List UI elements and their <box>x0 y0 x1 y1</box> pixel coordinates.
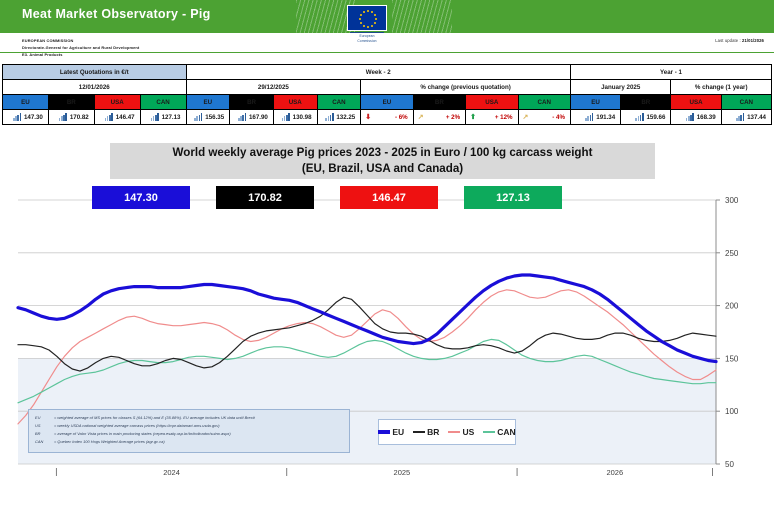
legend-label: BR <box>427 427 439 437</box>
logo-caption-line2: Commission <box>338 39 396 44</box>
badge-usa: 146.47 <box>340 186 438 209</box>
y-tick-label-150: 150 <box>725 354 739 363</box>
x-tick-label-2026: 2026 <box>606 468 623 477</box>
directorate-name: Directorate-General for Agriculture and … <box>22 44 139 51</box>
value-text: 127.13 <box>162 114 181 121</box>
legend-label: US <box>462 427 474 437</box>
header-year: Year - 1 <box>570 65 771 80</box>
trend-down-icon: ⬇ <box>365 114 371 121</box>
value-cell-year-usa: 168.39 <box>671 110 721 125</box>
pct-text: + 2% <box>428 114 461 121</box>
y-tick-label-50: 50 <box>725 460 734 469</box>
pct-cell-week-pct-usa: ⬆+ 12% <box>466 110 518 125</box>
logo-divider <box>350 32 384 33</box>
sparkline-icon <box>635 113 643 121</box>
commission-name: EUROPEAN COMMISSION <box>22 37 139 44</box>
sparkline-icon <box>686 113 694 121</box>
pct-cell-week-pct-can: ↗- 4% <box>518 110 570 125</box>
country-header-week-usa: USA <box>273 95 317 110</box>
last-update: Last update : 21/01/2026 <box>715 38 764 43</box>
value-cell-latest-usa: 146.47 <box>94 110 140 125</box>
chart-title: World weekly average Pig prices 2023 - 2… <box>110 143 655 179</box>
footnote-key: US <box>35 422 54 430</box>
quotations-table: Latest Quotations in €/t Week - 2 Year -… <box>2 64 772 125</box>
value-cell-week-can: 132.25 <box>317 110 361 125</box>
header-latest-quotations: Latest Quotations in €/t <box>3 65 187 80</box>
value-text: 156.35 <box>205 114 224 121</box>
value-text: 147.30 <box>24 114 43 121</box>
country-header-week-pct-can: CAN <box>518 95 570 110</box>
sparkline-icon <box>736 113 744 121</box>
eu-commission-logo: European Commission <box>338 5 396 44</box>
header-week: Week - 2 <box>186 65 570 80</box>
footnote-key: CAN <box>35 438 54 446</box>
sparkline-icon <box>105 113 113 121</box>
badge-br: 170.82 <box>216 186 314 209</box>
table-row-sub-headers: 12/01/2026 29/12/2025 % change (previous… <box>3 80 772 95</box>
table-row-values: 147.30170.82146.47127.13156.35167.90130.… <box>3 110 772 125</box>
y-tick-label-250: 250 <box>725 249 739 258</box>
last-update-label: Last update : <box>715 38 741 43</box>
badge-can: 127.13 <box>464 186 562 209</box>
sparkline-icon <box>151 113 159 121</box>
subheader-year-date: January 2025 <box>570 80 670 95</box>
pct-cell-week-pct-eu: ⬇- 6% <box>361 110 413 125</box>
value-cell-latest-eu: 147.30 <box>3 110 49 125</box>
footnote-text: = weekly USDA national weighted average … <box>54 424 220 428</box>
country-header-week-eu: EU <box>186 95 230 110</box>
value-cell-latest-can: 127.13 <box>140 110 186 125</box>
value-text: 170.82 <box>70 114 89 121</box>
trend-flat-icon: ↗ <box>418 114 424 121</box>
country-header-latest-usa: USA <box>94 95 140 110</box>
sparkline-icon <box>59 113 67 121</box>
value-text: 168.39 <box>697 114 716 121</box>
eu-flag-icon <box>347 5 387 31</box>
footnote-key: BR <box>35 430 54 438</box>
chart-title-line1: World weekly average Pig prices 2023 - 2… <box>110 145 655 161</box>
header-swoosh-right <box>392 0 452 33</box>
legend-label: EU <box>392 427 404 437</box>
subheader-year-pct: % change (1 year) <box>671 80 772 95</box>
footnote-line-eu: EU= weighted average of MS prices for cl… <box>35 414 344 422</box>
pct-text: - 4% <box>532 114 565 121</box>
footnote-box: EU= weighted average of MS prices for cl… <box>28 409 350 453</box>
y-tick-label-100: 100 <box>725 407 739 416</box>
subheader-week-pct: % change (previous quotation) <box>361 80 571 95</box>
badge-eu: 147.30 <box>92 186 190 209</box>
legend-swatch-icon <box>413 431 425 433</box>
value-text: 146.47 <box>116 114 135 121</box>
table-row-country-headers: EUBRUSACANEUBRUSACANEUBRUSACANEUBRUSACAN <box>3 95 772 110</box>
subheader-latest-date: 12/01/2026 <box>3 80 187 95</box>
footnote-line-br: BR= average of Valor Vista prices in mai… <box>35 430 344 438</box>
country-header-year-eu: EU <box>570 95 620 110</box>
value-text: 191.34 <box>596 114 615 121</box>
chart-title-line2: (EU, Brazil, USA and Canada) <box>110 161 655 177</box>
legend-item-can[interactable]: CAN <box>483 427 515 437</box>
sparkline-icon <box>194 113 202 121</box>
sparkline-icon <box>238 113 246 121</box>
x-tick-label-2024: 2024 <box>163 468 180 477</box>
country-header-year-can: CAN <box>721 95 771 110</box>
pct-text: + 12% <box>480 114 513 121</box>
value-cell-year-br: 159.66 <box>621 110 671 125</box>
current-value-badges: 147.30 170.82 146.47 127.13 <box>0 186 774 210</box>
page-title: Meat Market Observatory - Pig <box>22 7 211 21</box>
commission-block: EUROPEAN COMMISSION Directorate-General … <box>22 37 139 59</box>
sparkline-icon <box>585 113 593 121</box>
footnote-text: = weighted average of MS prices for clas… <box>54 416 255 420</box>
legend-swatch-icon <box>448 431 460 433</box>
value-cell-week-br: 167.90 <box>230 110 274 125</box>
country-header-week-pct-usa: USA <box>466 95 518 110</box>
footnote-text: = average of Valor Vista prices in main … <box>54 432 231 436</box>
country-header-latest-can: CAN <box>140 95 186 110</box>
value-text: 159.66 <box>646 114 665 121</box>
sparkline-icon <box>325 113 333 121</box>
trend-up-icon: ⬆ <box>470 114 476 121</box>
footnote-key: EU <box>35 414 54 422</box>
country-header-latest-br: BR <box>48 95 94 110</box>
country-header-latest-eu: EU <box>3 95 49 110</box>
country-header-week-pct-br: BR <box>413 95 465 110</box>
country-header-year-br: BR <box>621 95 671 110</box>
logo-caption: European Commission <box>338 34 396 44</box>
sparkline-icon <box>282 113 290 121</box>
country-header-week-pct-eu: EU <box>361 95 413 110</box>
sparkline-icon <box>13 113 21 121</box>
value-text: 130.98 <box>293 114 312 121</box>
value-text: 137.44 <box>747 114 766 121</box>
subheader-week-date: 29/12/2025 <box>186 80 361 95</box>
value-text: 132.25 <box>336 114 355 121</box>
last-update-value: 21/01/2026 <box>742 38 764 43</box>
header-divider <box>0 52 774 53</box>
legend-item-us[interactable]: US <box>448 427 474 437</box>
footnote-line-can: CAN= Quebec Index 100 Hogs Weighted Aver… <box>35 438 344 446</box>
value-text: 167.90 <box>249 114 268 121</box>
footnote-line-us: US= weekly USDA national weighted averag… <box>35 422 344 430</box>
value-cell-latest-br: 170.82 <box>48 110 94 125</box>
value-cell-week-eu: 156.35 <box>186 110 230 125</box>
legend-item-eu[interactable]: EU <box>378 427 404 437</box>
y-tick-label-200: 200 <box>725 302 739 311</box>
pct-text: - 6% <box>375 114 408 121</box>
country-header-week-can: CAN <box>317 95 361 110</box>
x-tick-label-2025: 2025 <box>394 468 411 477</box>
footnote-text: = Quebec Index 100 Hogs Weighted Average… <box>54 440 165 444</box>
value-cell-week-usa: 130.98 <box>273 110 317 125</box>
country-header-week-br: BR <box>230 95 274 110</box>
trend-flat-icon: ↗ <box>523 114 529 121</box>
legend-label: CAN <box>497 427 515 437</box>
value-cell-year-can: 137.44 <box>721 110 771 125</box>
legend-item-br[interactable]: BR <box>413 427 439 437</box>
chart-legend: EUBRUSCAN <box>378 419 516 445</box>
table-row-group-headers: Latest Quotations in €/t Week - 2 Year -… <box>3 65 772 80</box>
value-cell-year-eu: 191.34 <box>570 110 620 125</box>
pct-cell-week-pct-br: ↗+ 2% <box>413 110 465 125</box>
country-header-year-usa: USA <box>671 95 721 110</box>
legend-swatch-icon <box>483 431 495 433</box>
legend-swatch-icon <box>378 430 390 433</box>
